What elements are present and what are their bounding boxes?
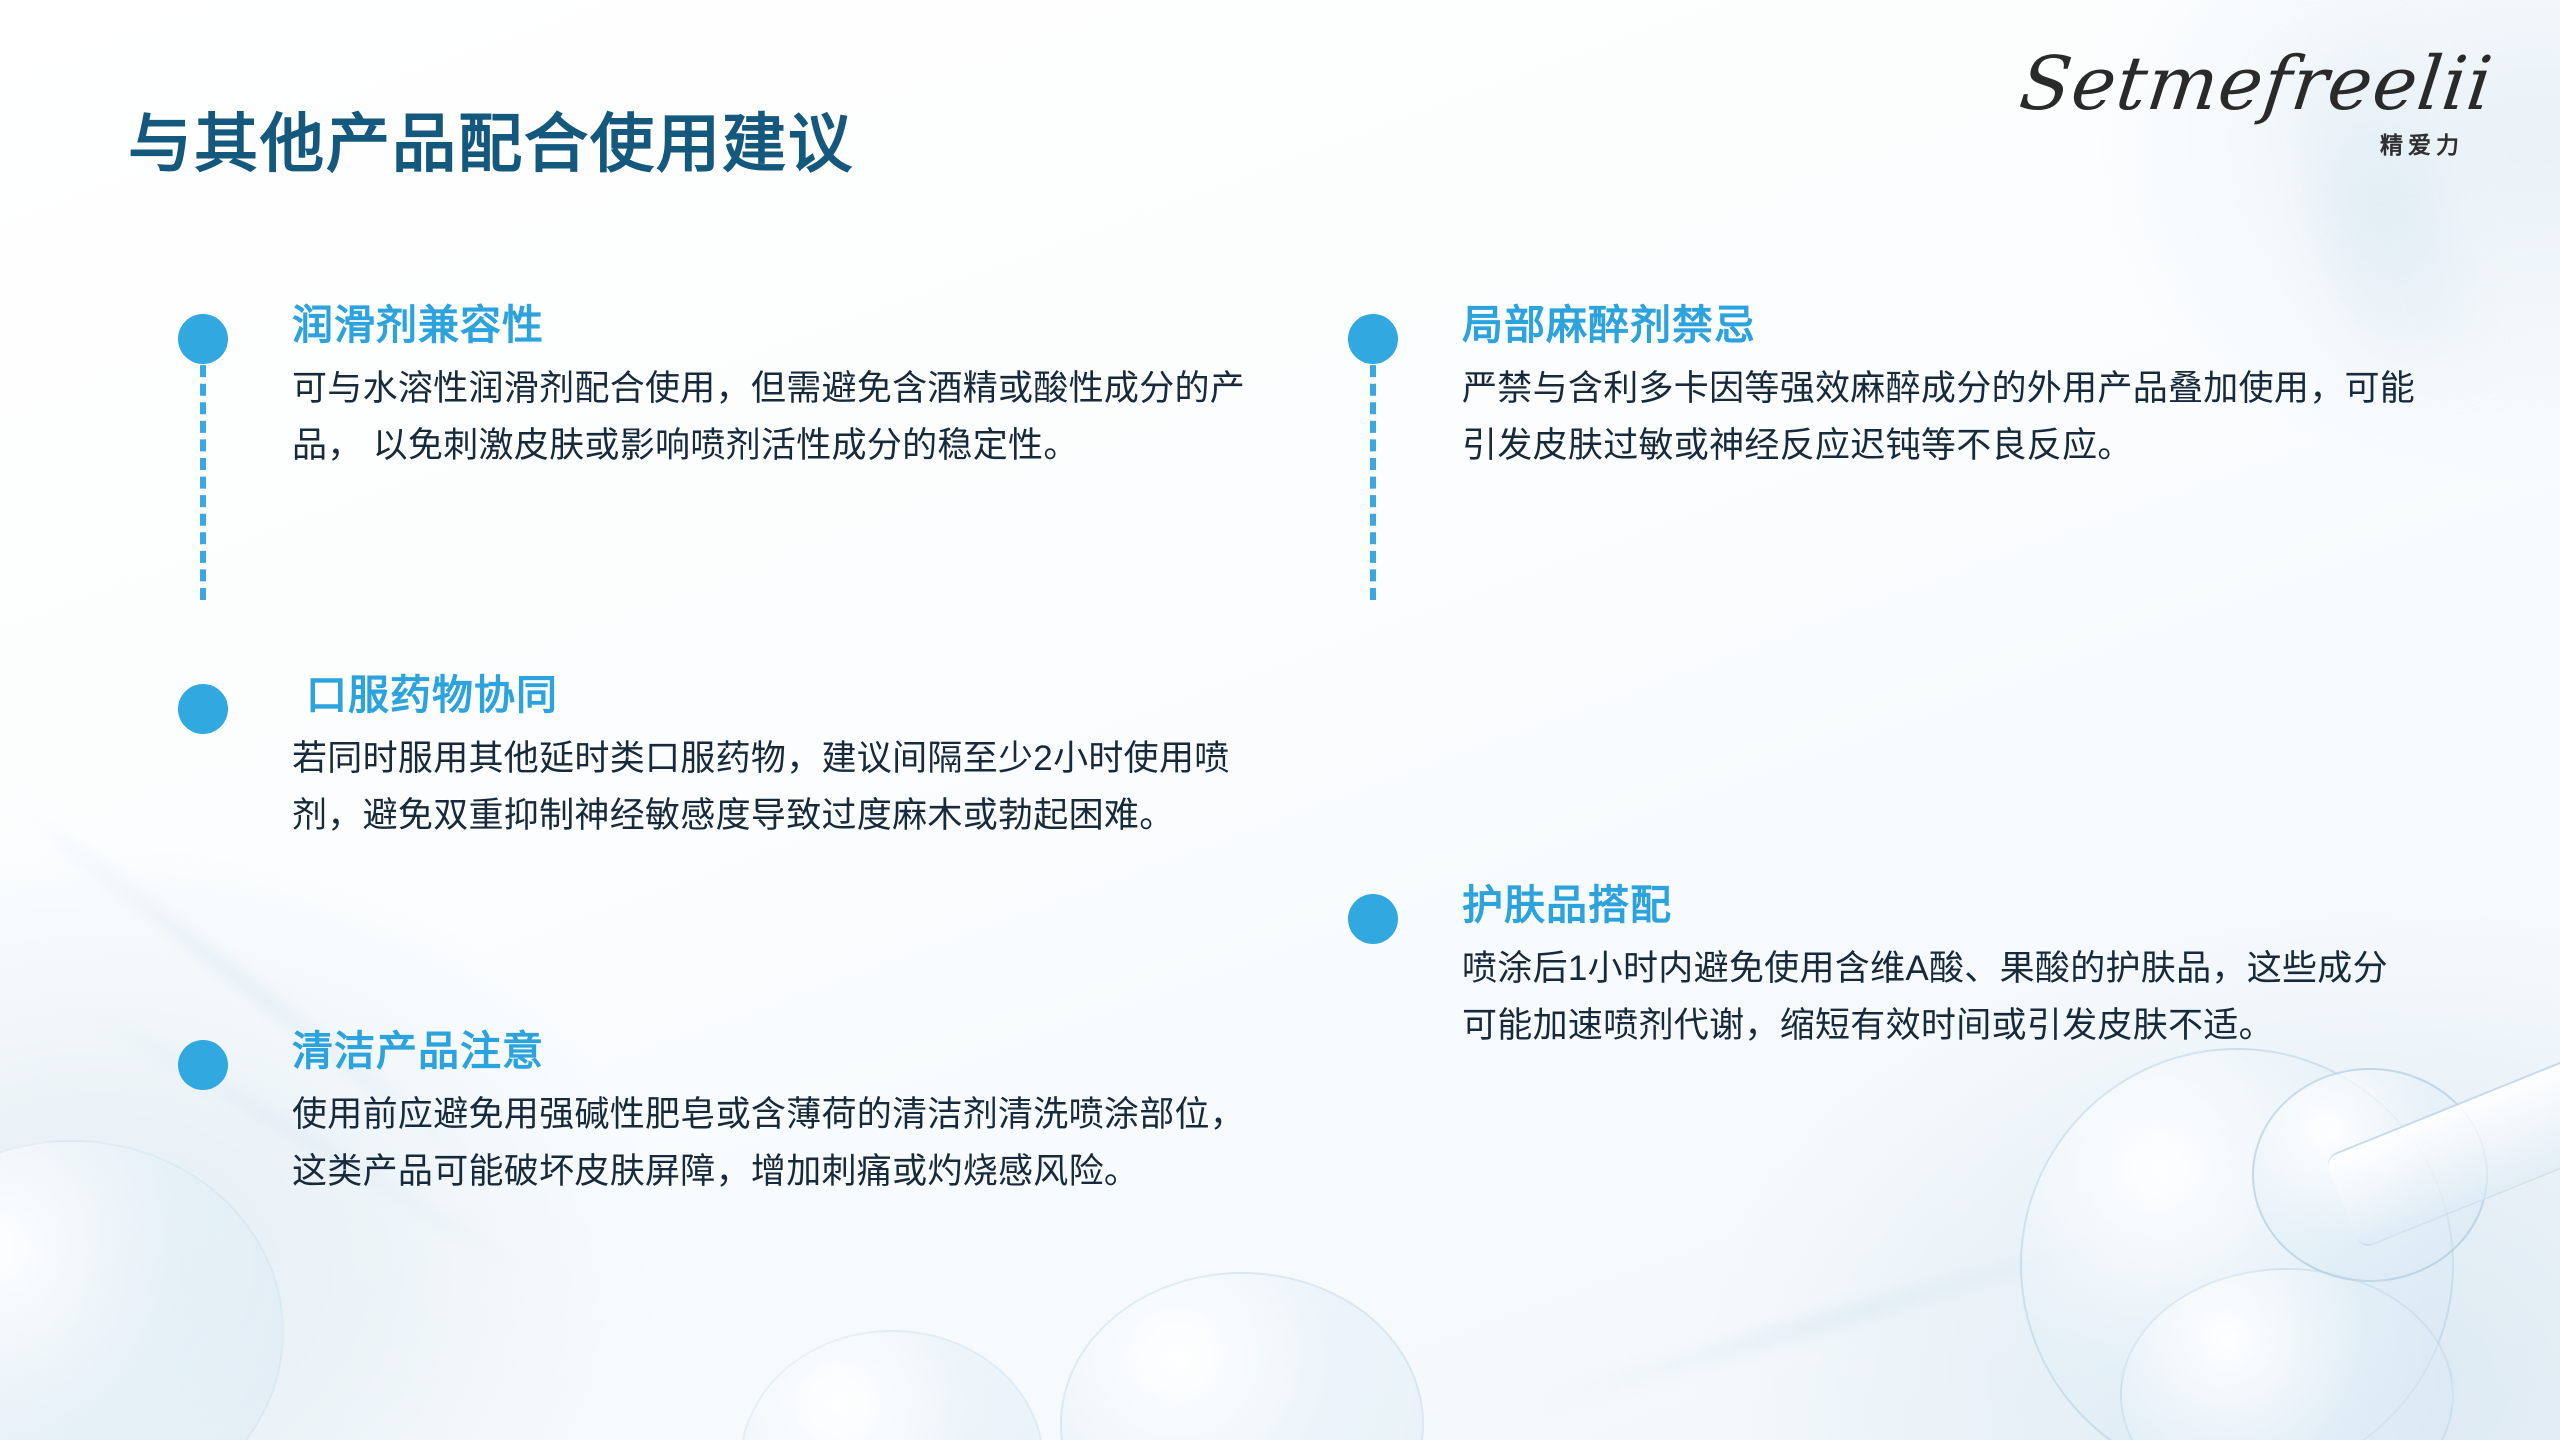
list-item: 护肤品搭配 喷涂后1小时内避免使用含维A酸、果酸的护肤品，这些成分可能加速喷剂代… [1348, 880, 2428, 1055]
item-title: 护肤品搭配 [1462, 880, 2428, 931]
item-body: 可与水溶性润滑剂配合使用，但需避免含酒精或酸性成分的产品， 以免刺激皮肤或影响喷… [292, 361, 1247, 474]
item-title: 清洁产品注意 [292, 1026, 1258, 1077]
bullet-dot-icon [178, 314, 228, 364]
slide-root: 与其他产品配合使用建议 Setmefreelii 精爱力 润滑剂兼容性 可与水溶… [0, 0, 2560, 1440]
list-item: 局部麻醉剂禁忌 严禁与含利多卡因等强效麻醉成分的外用产品叠加使用，可能引发皮肤过… [1348, 300, 2428, 475]
list-item: 润滑剂兼容性 可与水溶性润滑剂配合使用，但需避免含酒精或酸性成分的产品， 以免刺… [178, 300, 1258, 475]
list-item: 清洁产品注意 使用前应避免用强碱性肥皂或含薄荷的清洁剂清洗喷涂部位，这类产品可能… [178, 1026, 1258, 1201]
content-columns: 润滑剂兼容性 可与水溶性润滑剂配合使用，但需避免含酒精或酸性成分的产品， 以免刺… [0, 0, 2560, 1440]
item-title: 润滑剂兼容性 [292, 300, 1258, 351]
item-body: 严禁与含利多卡因等强效麻醉成分的外用产品叠加使用，可能引发皮肤过敏或神经反应迟钝… [1462, 361, 2417, 474]
item-body: 使用前应避免用强碱性肥皂或含薄荷的清洁剂清洗喷涂部位，这类产品可能破坏皮肤屏障，… [292, 1087, 1247, 1200]
bullet-dot-icon [178, 1040, 228, 1090]
item-body: 若同时服用其他延时类口服药物，建议间隔至少2小时使用喷剂，避免双重抑制神经敏感度… [292, 731, 1247, 844]
item-title: 局部麻醉剂禁忌 [1462, 300, 2428, 351]
bullet-dot-icon [1348, 314, 1398, 364]
list-item: 口服药物协同 若同时服用其他延时类口服药物，建议间隔至少2小时使用喷剂，避免双重… [178, 670, 1258, 845]
item-title: 口服药物协同 [292, 670, 1258, 721]
bullet-dot-icon [178, 684, 228, 734]
bullet-dot-icon [1348, 894, 1398, 944]
item-body: 喷涂后1小时内避免使用含维A酸、果酸的护肤品，这些成分可能加速喷剂代谢，缩短有效… [1462, 941, 2417, 1054]
